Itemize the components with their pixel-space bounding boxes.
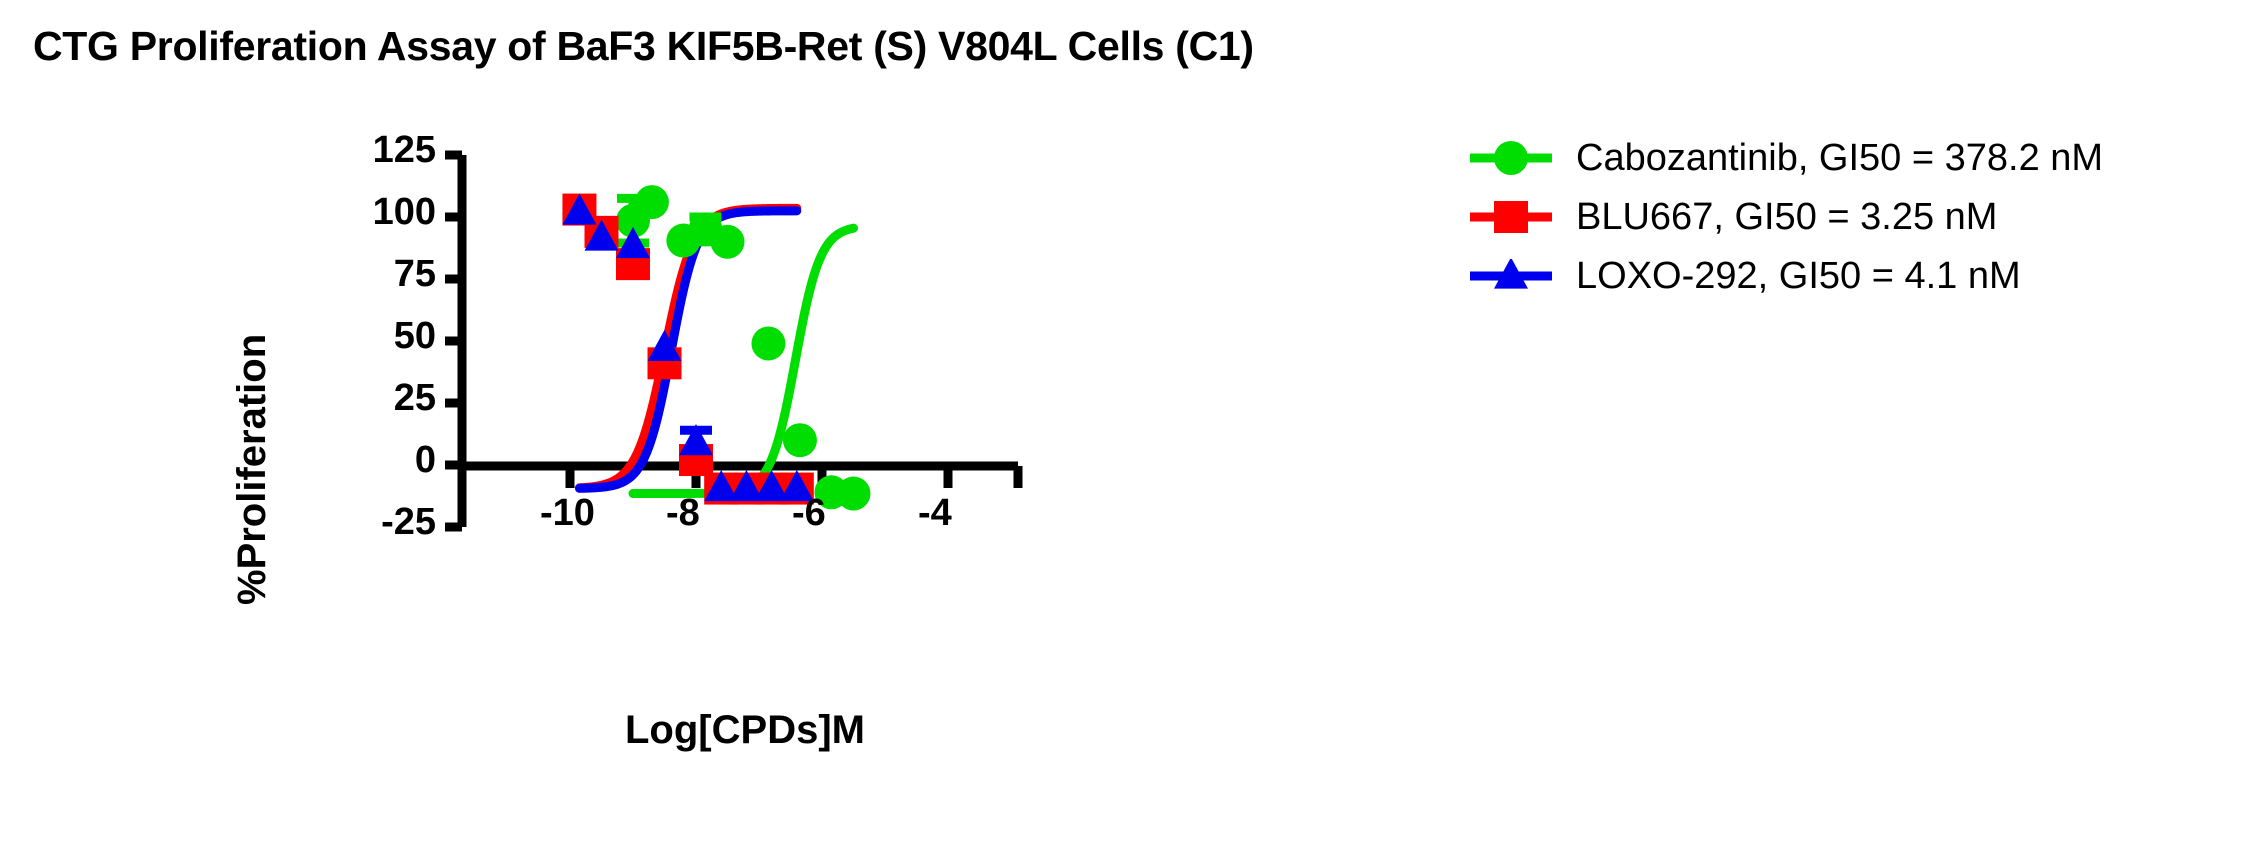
x-tick-labels: -10-8-6-4 <box>0 0 1450 852</box>
legend-label: LOXO-292, GI50 = 4.1 nM <box>1576 256 2021 296</box>
legend-item-cabozantinib[interactable]: Cabozantinib, GI50 = 378.2 nM <box>1468 128 2228 187</box>
legend-label: BLU667, GI50 = 3.25 nM <box>1576 197 1997 237</box>
square-marker-icon <box>1468 200 1554 234</box>
legend-marker <box>1494 201 1528 233</box>
legend-item-loxo292[interactable]: LOXO-292, GI50 = 4.1 nM <box>1468 246 2228 305</box>
chart-legend: Cabozantinib, GI50 = 378.2 nMBLU667, GI5… <box>1468 128 2228 305</box>
triangle-marker-icon <box>1468 259 1554 293</box>
circle-marker-icon <box>1468 141 1554 175</box>
chart-root: CTG Proliferation Assay of BaF3 KIF5B-Re… <box>0 0 2252 852</box>
legend-marker <box>1494 141 1528 175</box>
x-tick-label: -8 <box>666 492 700 535</box>
x-tick-label: -6 <box>792 492 826 535</box>
x-tick-label: -4 <box>918 492 952 535</box>
legend-label: Cabozantinib, GI50 = 378.2 nM <box>1576 138 2103 178</box>
plot-area: %Proliferation Log[CPDs]M 1251007550250-… <box>0 0 1450 852</box>
x-tick-label: -10 <box>540 492 595 535</box>
legend-item-blu667[interactable]: BLU667, GI50 = 3.25 nM <box>1468 187 2228 246</box>
